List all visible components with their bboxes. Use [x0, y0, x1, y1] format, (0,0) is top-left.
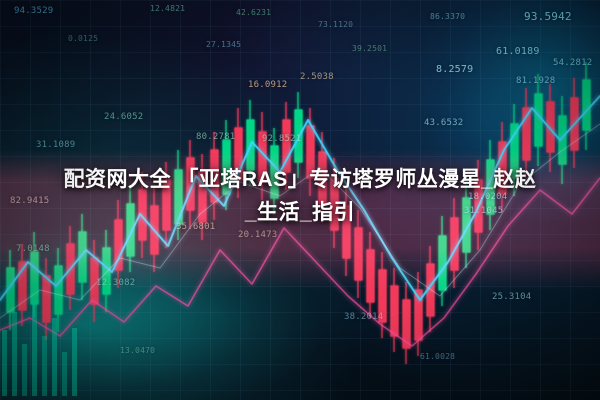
headline-text: 配资网大全 「亚塔RAS」专访塔罗师丛漫星_赵赵 _生活_指引: [0, 163, 600, 229]
market-chart-background-image: 94.352912.482142.623173.112086.337093.59…: [0, 0, 600, 400]
headline-line-2: _生活_指引: [0, 196, 600, 229]
headline-line-1: 配资网大全 「亚塔RAS」专访塔罗师丛漫星_赵赵: [0, 163, 600, 196]
volume-bars: [2, 300, 77, 396]
